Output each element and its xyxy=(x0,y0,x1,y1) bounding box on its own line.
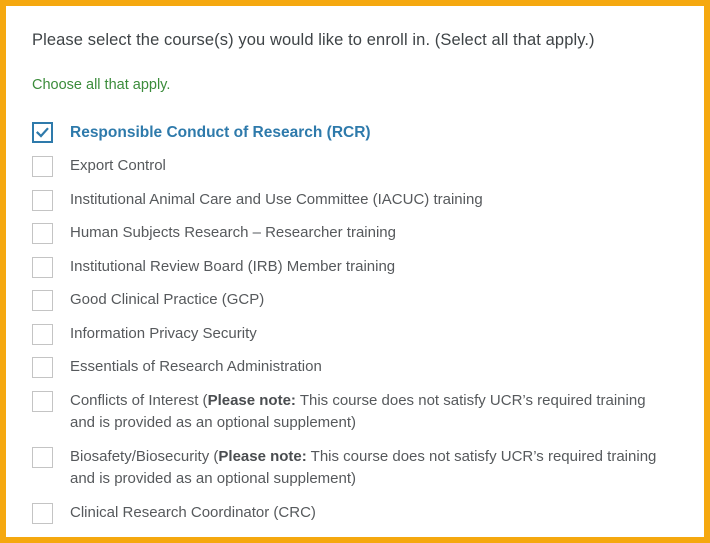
checkbox-unchecked[interactable] xyxy=(32,156,53,177)
checkbox-unchecked[interactable] xyxy=(32,447,53,468)
checkbox-unchecked[interactable] xyxy=(32,324,53,345)
checkbox-unchecked[interactable] xyxy=(32,190,53,211)
course-option-row[interactable]: Biosafety/Biosecurity (Please note: This… xyxy=(32,446,678,502)
course-option-row[interactable]: Human Subjects Research – Researcher tra… xyxy=(32,222,678,256)
course-option-row[interactable]: Conflicts of Interest (Please note: This… xyxy=(32,390,678,446)
course-option-row[interactable]: Information Privacy Security xyxy=(32,323,678,357)
please-note-emphasis: Please note: xyxy=(208,392,296,409)
course-option-row[interactable]: Institutional Animal Care and Use Commit… xyxy=(32,189,678,223)
course-selection-panel: Please select the course(s) you would li… xyxy=(0,0,710,543)
course-option-row[interactable]: Clinical Research Coordinator (CRC) xyxy=(32,502,678,536)
course-option-list: Responsible Conduct of Research (RCR)Exp… xyxy=(32,95,678,535)
checkbox-checked[interactable] xyxy=(32,122,53,143)
checkbox-unchecked[interactable] xyxy=(32,503,53,524)
course-option-row[interactable]: Institutional Review Board (IRB) Member … xyxy=(32,256,678,290)
choose-all-note: Choose all that apply. xyxy=(32,51,678,95)
course-option-row[interactable]: Responsible Conduct of Research (RCR) xyxy=(32,121,678,155)
course-option-label: Good Clinical Practice (GCP) xyxy=(70,289,264,312)
course-option-label: Information Privacy Security xyxy=(70,323,257,346)
page-title: Please select the course(s) you would li… xyxy=(32,24,678,51)
course-option-label: Essentials of Research Administration xyxy=(70,356,322,379)
course-option-label: Human Subjects Research – Researcher tra… xyxy=(70,222,396,245)
course-option-label: Responsible Conduct of Research (RCR) xyxy=(70,121,371,144)
course-option-row[interactable]: Essentials of Research Administration xyxy=(32,356,678,390)
checkmark-icon xyxy=(34,124,51,141)
please-note-emphasis: Please note: xyxy=(218,448,306,465)
course-option-label: Export Control xyxy=(70,155,166,178)
course-option-row[interactable]: Good Clinical Practice (GCP) xyxy=(32,289,678,323)
course-option-label: Institutional Animal Care and Use Commit… xyxy=(70,189,483,212)
checkbox-unchecked[interactable] xyxy=(32,257,53,278)
checkbox-unchecked[interactable] xyxy=(32,223,53,244)
course-option-label: Biosafety/Biosecurity (Please note: This… xyxy=(70,446,670,491)
checkbox-unchecked[interactable] xyxy=(32,391,53,412)
checkbox-unchecked[interactable] xyxy=(32,357,53,378)
course-option-label: Conflicts of Interest (Please note: This… xyxy=(70,390,670,435)
course-option-row[interactable]: Export Control xyxy=(32,155,678,189)
course-option-label: Institutional Review Board (IRB) Member … xyxy=(70,256,395,279)
course-option-label: Clinical Research Coordinator (CRC) xyxy=(70,502,316,525)
checkbox-unchecked[interactable] xyxy=(32,290,53,311)
